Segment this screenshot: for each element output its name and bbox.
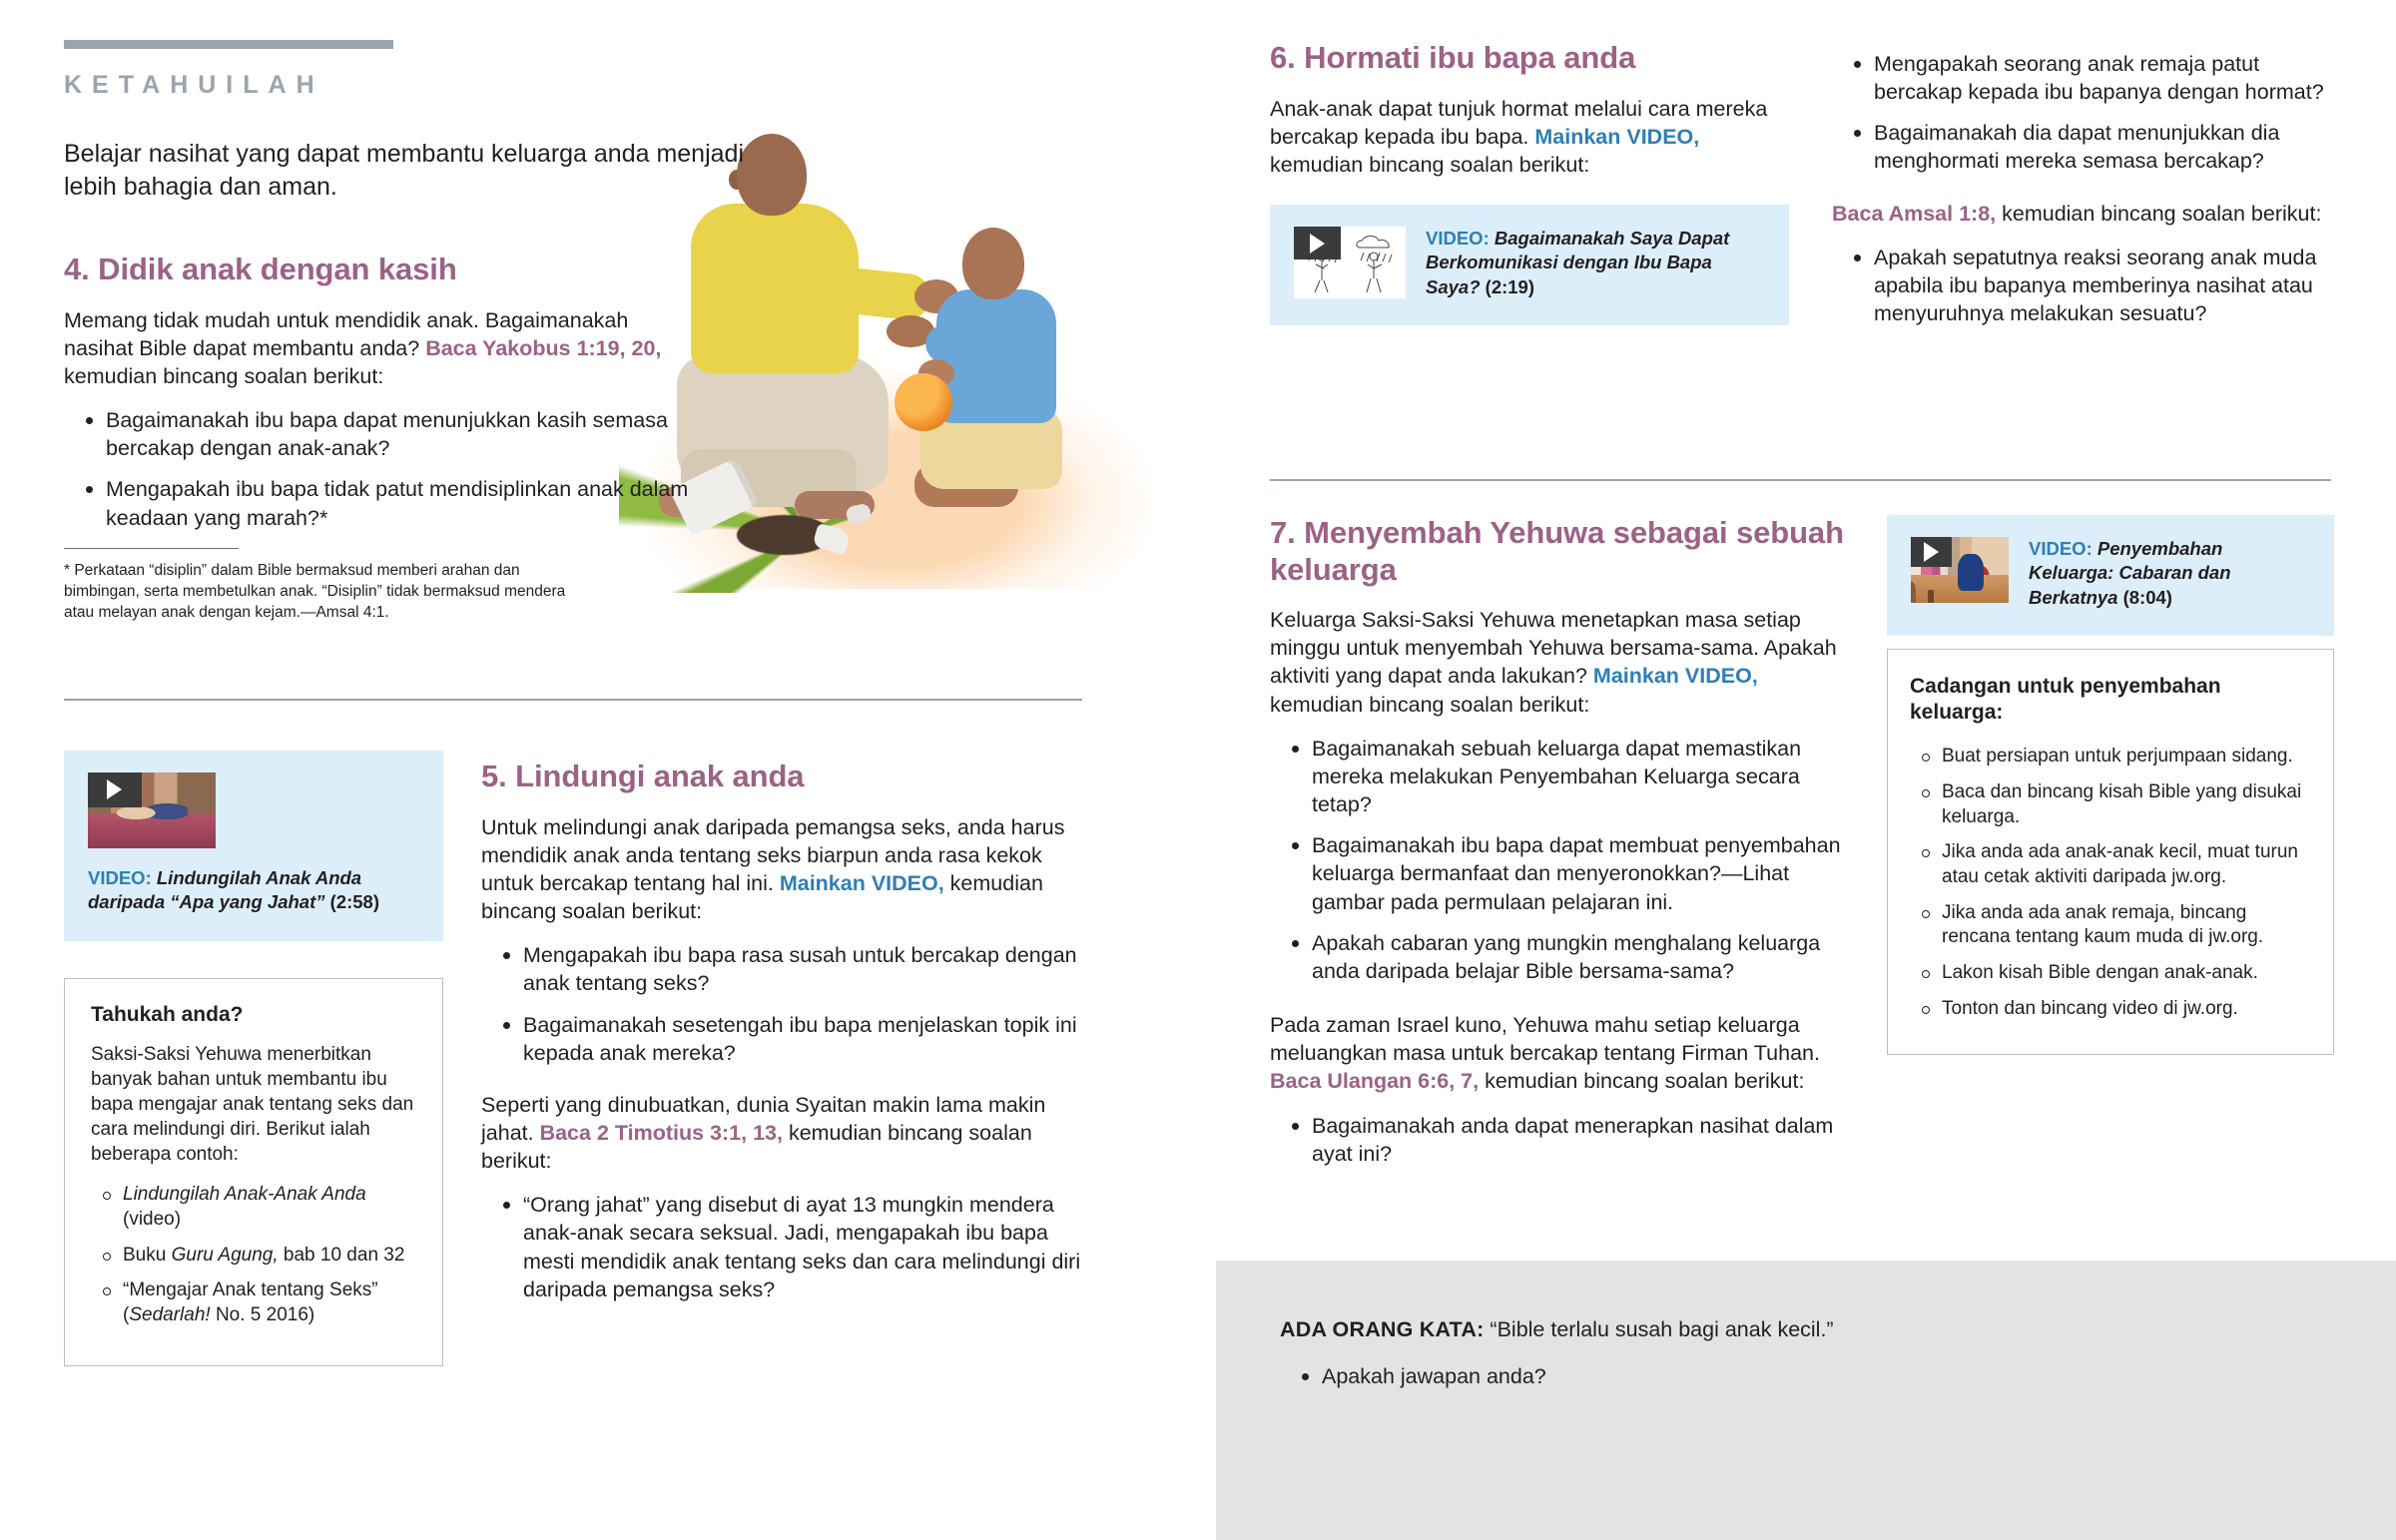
section-7-heading: 7. Menyembah Yehuwa sebagai sebuah kelua… (1270, 515, 1849, 588)
scripture-reference-yakobus[interactable]: Baca Yakobus 1:19, 20, (425, 336, 661, 360)
list-item: Tonton dan bincang video di jw.org. (1910, 997, 2307, 1022)
list-item: “Orang jahat” yang disebut di ayat 13 mu… (481, 1191, 1100, 1303)
kicker-label: KETAHUILAH (64, 71, 763, 100)
footnote-divider (64, 548, 239, 550)
horizontal-divider-right (1270, 479, 2331, 481)
video-thumbnail[interactable] (88, 772, 216, 848)
section-4: 4. Didik anak dengan kasih Memang tidak … (64, 252, 703, 623)
list-item: Lakon kisah Bible dengan anak-anak. (1910, 961, 2307, 986)
did-you-know-heading: Tahukah anda? (91, 1003, 416, 1027)
scripture-reference-amsal[interactable]: Baca Amsal 1:8, (1832, 202, 1996, 226)
publication-note: (video) (123, 1209, 181, 1230)
kicker-rule (64, 40, 393, 49)
list-item: Bagaimanakah ibu bapa dapat membuat peny… (1270, 831, 1849, 915)
video-duration: (2:58) (330, 891, 379, 912)
people-say-strip: ADA ORANG KATA: “Bible terlalu susah bag… (1216, 1261, 2396, 1540)
list-item: Mengapakah seorang anak remaja patut ber… (1832, 50, 2331, 106)
list-item: Lindungilah Anak-Anak Anda (video) (91, 1183, 416, 1232)
section-6-heading: 6. Hormati ibu bapa anda (1270, 40, 1789, 77)
section-7: 7. Menyembah Yehuwa sebagai sebuah kelua… (1270, 515, 1849, 1184)
section-7-paragraph-2: Pada zaman Israel kuno, Yehuwa mahu seti… (1270, 1011, 1849, 1095)
list-item: Bagaimanakah ibu bapa dapat menunjukkan … (64, 406, 703, 462)
section-7-question-list-2: Bagaimanakah anda dapat menerapkan nasih… (1270, 1112, 1849, 1168)
video-card-family-worship[interactable]: VIDEO: Penyembahan Keluarga: Cabaran dan… (1887, 515, 2334, 636)
play-icon[interactable] (88, 772, 142, 807)
section-4-heading: 4. Didik anak dengan kasih (64, 252, 703, 288)
video-card-communicate-with-parents[interactable]: VIDEO: Bagaimanakah Saya Dapat Berkomuni… (1270, 205, 1789, 325)
list-item: Bagaimanakah dia dapat menunjukkan dia m… (1832, 119, 2331, 175)
section-7-paragraph-post: kemudian bincang soalan berikut: (1270, 693, 1589, 717)
list-item: Apakah cabaran yang mungkin menghalang k… (1270, 929, 1849, 985)
cadangan-list: Buat persiapan untuk perjumpaan sidang. … (1910, 745, 2307, 1021)
publication-title: Sedarlah! (129, 1304, 210, 1325)
son-head (962, 228, 1024, 299)
section-6-paragraph-2-post: kemudian bincang soalan berikut: (1996, 202, 2321, 226)
scripture-reference-timotius[interactable]: Baca 2 Timotius 3:1, 13, (540, 1121, 783, 1145)
list-item: Mengapakah ibu bapa tidak patut mendisip… (64, 475, 703, 531)
list-item: “Mengajar Anak tentang Seks” (Sedarlah! … (91, 1279, 416, 1327)
video-caption: VIDEO: Bagaimanakah Saya Dapat Berkomuni… (1426, 227, 1765, 299)
list-item: Bagaimanakah anda dapat menerapkan nasih… (1270, 1112, 1849, 1168)
section-4-paragraph-post: kemudian bincang soalan berikut: (64, 364, 383, 388)
ball (895, 373, 952, 431)
publication-title: Guru Agung, (172, 1245, 279, 1266)
section-6-question-list-2: Apakah sepatutnya reaksi seorang anak mu… (1832, 244, 2331, 327)
publication-note: bab 10 dan 32 (279, 1245, 405, 1266)
people-say-label: ADA ORANG KATA: (1280, 1317, 1484, 1341)
list-item: Jika anda ada anak-anak kecil, muat turu… (1910, 840, 2307, 889)
intro-paragraph: Belajar nasihat yang dapat membantu kelu… (64, 138, 753, 204)
list-item: Apakah jawapan anda? (1280, 1362, 2332, 1390)
section-6-paragraph-post: kemudian bincang soalan berikut: (1270, 153, 1589, 177)
play-video-link[interactable]: Mainkan VIDEO, (780, 871, 944, 895)
section-7-question-list: Bagaimanakah sebuah keluarga dapat memas… (1270, 735, 1849, 985)
section-6: 6. Hormati ibu bapa anda Anak-anak dapat… (1270, 40, 1789, 325)
video-caption: VIDEO: Lindungilah Anak Anda daripada “A… (88, 866, 419, 915)
section-5: 5. Lindungi anak anda Untuk melindungi a… (481, 759, 1100, 1319)
video-label: VIDEO: (2029, 538, 2093, 559)
section-4-paragraph: Memang tidak mudah untuk mendidik anak. … (64, 306, 703, 390)
did-you-know-card: Tahukah anda? Saksi-Saksi Yehuwa menerbi… (64, 978, 443, 1366)
people-say-question-list: Apakah jawapan anda? (1280, 1362, 2332, 1390)
section-5-heading: 5. Lindungi anak anda (481, 759, 1100, 795)
video-card-protect-children[interactable]: VIDEO: Lindungilah Anak Anda daripada “A… (64, 751, 443, 941)
video-thumbnail[interactable] (1294, 227, 1406, 298)
video-duration: (2:19) (1486, 276, 1534, 297)
play-video-link[interactable]: Mainkan VIDEO, (1534, 125, 1699, 149)
section-6-sidebar: Mengapakah seorang anak remaja patut ber… (1832, 50, 2331, 343)
did-you-know-list: Lindungilah Anak-Anak Anda (video) Buku … (91, 1183, 416, 1327)
list-item: Buku Guru Agung, bab 10 dan 32 (91, 1244, 416, 1269)
play-icon[interactable] (1294, 227, 1341, 259)
list-item: Buat persiapan untuk perjumpaan sidang. (1910, 745, 2307, 770)
horizontal-divider-left (64, 699, 1082, 701)
section-5-paragraph-2: Seperti yang dinubuatkan, dunia Syaitan … (481, 1091, 1100, 1175)
section-7-paragraph-2-pre: Pada zaman Israel kuno, Yehuwa mahu seti… (1270, 1013, 1820, 1065)
section-6-paragraph: Anak-anak dapat tunjuk hormat melalui ca… (1270, 95, 1789, 179)
publication-title: Lindungilah Anak-Anak Anda (123, 1184, 366, 1205)
section-5-question-list: Mengapakah ibu bapa rasa susah untuk ber… (481, 941, 1100, 1067)
play-video-link[interactable]: Mainkan VIDEO, (1593, 664, 1758, 688)
video-caption: VIDEO: Penyembahan Keluarga: Cabaran dan… (2029, 537, 2310, 610)
video-duration: (8:04) (2123, 587, 2172, 608)
section-4-question-list: Bagaimanakah ibu bapa dapat menunjukkan … (64, 406, 703, 532)
section-5-paragraph: Untuk melindungi anak daripada pemangsa … (481, 813, 1100, 926)
publication-prefix: Buku (123, 1245, 172, 1266)
list-item: Bagaimanakah sebuah keluarga dapat memas… (1270, 735, 1849, 818)
people-say-quote: “Bible terlalu susah bagi anak kecil.” (1484, 1317, 1833, 1341)
section-4-footnote: * Perkataan “disiplin” dalam Bible berma… (64, 561, 593, 623)
video-label: VIDEO: (88, 867, 152, 888)
list-item: Jika anda ada anak remaja, bincang renca… (1910, 901, 2307, 950)
section-6-paragraph-2: Baca Amsal 1:8, kemudian bincang soalan … (1832, 200, 2331, 228)
play-icon[interactable] (1911, 537, 1952, 567)
people-say-line: ADA ORANG KATA: “Bible terlalu susah bag… (1280, 1316, 2332, 1344)
section-6-question-list: Mengapakah seorang anak remaja patut ber… (1832, 50, 2331, 176)
list-item: Bagaimanakah sesetengah ibu bapa menjela… (481, 1011, 1100, 1067)
section-7-paragraph-2-post: kemudian bincang soalan berikut: (1479, 1069, 1804, 1093)
did-you-know-body: Saksi-Saksi Yehuwa menerbitkan banyak ba… (91, 1043, 416, 1167)
family-worship-suggestions-card: Cadangan untuk penyembahan keluarga: Bua… (1887, 649, 2334, 1055)
publication-note: No. 5 2016) (211, 1304, 315, 1325)
video-label: VIDEO: (1426, 228, 1490, 249)
section-5-question-list-2: “Orang jahat” yang disebut di ayat 13 mu… (481, 1191, 1100, 1303)
scripture-reference-ulangan[interactable]: Baca Ulangan 6:6, 7, (1270, 1069, 1479, 1093)
list-item: Baca dan bincang kisah Bible yang disuka… (1910, 780, 2307, 829)
list-item: Mengapakah ibu bapa rasa susah untuk ber… (481, 941, 1100, 997)
section-7-paragraph: Keluarga Saksi-Saksi Yehuwa menetapkan m… (1270, 606, 1849, 719)
cadangan-heading: Cadangan untuk penyembahan keluarga: (1910, 674, 2307, 725)
left-column: KETAHUILAH Belajar nasihat yang dapat me… (64, 40, 763, 623)
video-thumbnail[interactable] (1911, 537, 2009, 603)
list-item: Apakah sepatutnya reaksi seorang anak mu… (1832, 244, 2331, 327)
